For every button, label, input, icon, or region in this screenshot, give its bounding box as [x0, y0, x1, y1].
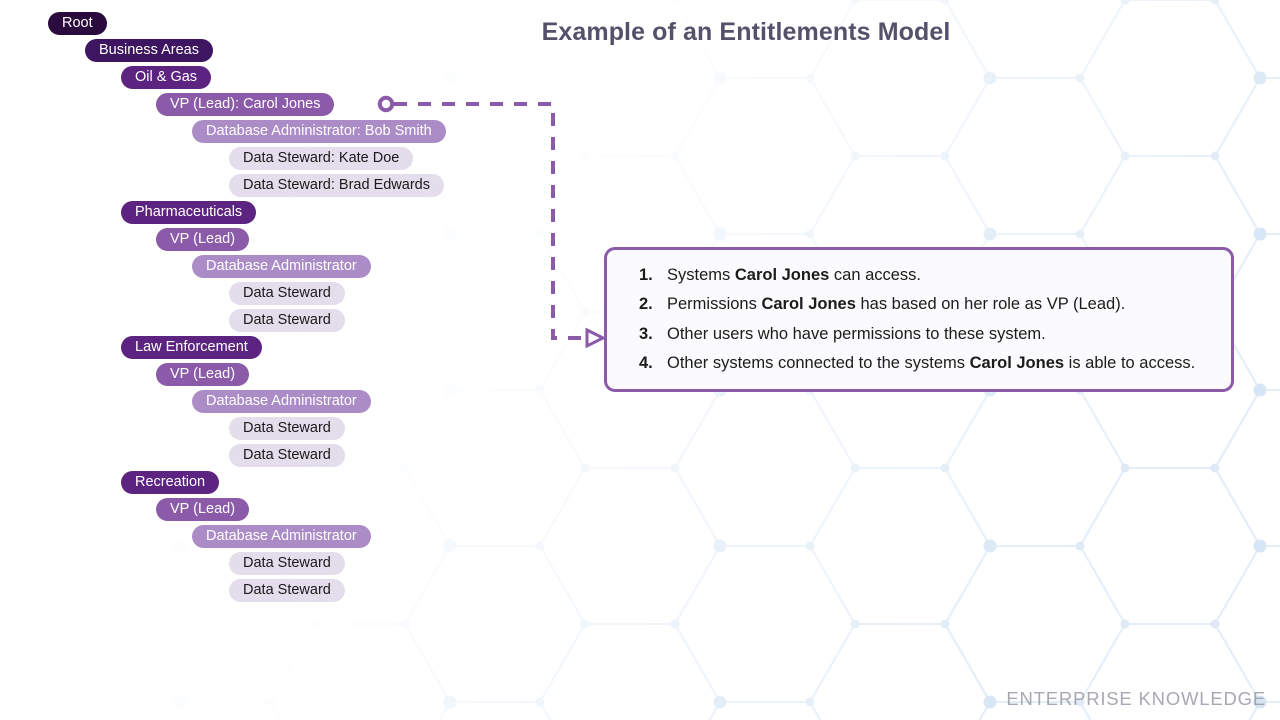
- callout-plain-text: Permissions: [667, 295, 761, 313]
- enterprise-knowledge-watermark: ENTERPRISE KNOWLEDGE: [1006, 688, 1266, 710]
- callout-list-item: 4.Other systems connected to the systems…: [627, 352, 1211, 374]
- tree-node-chip[interactable]: Data Steward: [229, 309, 345, 332]
- tree-node-row: Pharmaceuticals: [0, 201, 560, 228]
- tree-node-chip[interactable]: Data Steward: [229, 579, 345, 602]
- tree-node-chip[interactable]: Database Administrator: [192, 525, 371, 548]
- callout-item-text: Other systems connected to the systems C…: [667, 352, 1211, 374]
- callout-plain-text: is able to access.: [1064, 354, 1195, 372]
- tree-node-row: Data Steward: [0, 552, 560, 579]
- entitlements-callout-box: 1.Systems Carol Jones can access.2.Permi…: [604, 247, 1234, 392]
- tree-node-row: Data Steward: [0, 309, 560, 336]
- tree-node-chip[interactable]: Data Steward: Kate Doe: [229, 147, 413, 170]
- callout-emphasis: Carol Jones: [970, 354, 1064, 372]
- tree-node-row: Data Steward: [0, 579, 560, 606]
- callout-item-number: 4.: [627, 352, 667, 374]
- callout-item-number: 2.: [627, 293, 667, 315]
- connector-arrowhead: [587, 330, 603, 346]
- tree-node-row: VP (Lead): [0, 498, 560, 525]
- callout-plain-text: Other users who have permissions to thes…: [667, 325, 1046, 343]
- tree-node-chip[interactable]: VP (Lead): [156, 228, 249, 251]
- tree-node-chip[interactable]: Business Areas: [85, 39, 213, 62]
- tree-node-row: Database Administrator: Bob Smith: [0, 120, 560, 147]
- tree-node-row: Law Enforcement: [0, 336, 560, 363]
- callout-item-text: Systems Carol Jones can access.: [667, 264, 1211, 286]
- tree-node-row: Database Administrator: [0, 525, 560, 552]
- tree-node-row: Database Administrator: [0, 255, 560, 282]
- tree-node-row: Oil & Gas: [0, 66, 560, 93]
- callout-emphasis: Carol Jones: [735, 266, 829, 284]
- tree-node-chip[interactable]: Law Enforcement: [121, 336, 262, 359]
- callout-list-item: 3.Other users who have permissions to th…: [627, 323, 1211, 345]
- tree-node-chip[interactable]: Data Steward: [229, 552, 345, 575]
- callout-plain-text: has based on her role as VP (Lead).: [856, 295, 1125, 313]
- tree-node-row: Data Steward: Kate Doe: [0, 147, 560, 174]
- tree-node-row: Root: [0, 12, 560, 39]
- slide-canvas: Example of an Entitlements Model RootBus…: [0, 0, 1280, 720]
- tree-node-chip[interactable]: Recreation: [121, 471, 219, 494]
- tree-node-row: Data Steward: [0, 417, 560, 444]
- callout-list-item: 2.Permissions Carol Jones has based on h…: [627, 293, 1211, 315]
- tree-node-row: VP (Lead): [0, 228, 560, 255]
- tree-node-chip[interactable]: Database Administrator: [192, 390, 371, 413]
- tree-node-chip[interactable]: Database Administrator: [192, 255, 371, 278]
- tree-node-chip[interactable]: Pharmaceuticals: [121, 201, 256, 224]
- callout-emphasis: Carol Jones: [761, 295, 855, 313]
- tree-node-row: Data Steward: Brad Edwards: [0, 174, 560, 201]
- tree-node-chip[interactable]: Data Steward: Brad Edwards: [229, 174, 444, 197]
- callout-item-number: 3.: [627, 323, 667, 345]
- callout-item-number: 1.: [627, 264, 667, 286]
- tree-node-row: Data Steward: [0, 282, 560, 309]
- tree-node-row: VP (Lead): Carol Jones: [0, 93, 560, 120]
- tree-node-row: Data Steward: [0, 444, 560, 471]
- tree-node-chip[interactable]: Data Steward: [229, 282, 345, 305]
- callout-plain-text: can access.: [829, 266, 921, 284]
- callout-plain-text: Other systems connected to the systems: [667, 354, 970, 372]
- callout-item-text: Permissions Carol Jones has based on her…: [667, 293, 1211, 315]
- tree-node-chip[interactable]: Data Steward: [229, 417, 345, 440]
- tree-node-chip[interactable]: Data Steward: [229, 444, 345, 467]
- entitlements-hierarchy-tree: RootBusiness AreasOil & GasVP (Lead): Ca…: [0, 12, 560, 606]
- tree-node-chip[interactable]: Oil & Gas: [121, 66, 211, 89]
- tree-node-row: Business Areas: [0, 39, 560, 66]
- tree-node-row: Database Administrator: [0, 390, 560, 417]
- tree-node-row: VP (Lead): [0, 363, 560, 390]
- tree-node-row: Recreation: [0, 471, 560, 498]
- callout-plain-text: Systems: [667, 266, 735, 284]
- tree-node-chip[interactable]: VP (Lead): Carol Jones: [156, 93, 334, 116]
- tree-node-chip[interactable]: VP (Lead): [156, 363, 249, 386]
- callout-item-text: Other users who have permissions to thes…: [667, 323, 1211, 345]
- callout-list-item: 1.Systems Carol Jones can access.: [627, 264, 1211, 286]
- tree-node-chip[interactable]: Root: [48, 12, 107, 35]
- tree-node-chip[interactable]: Database Administrator: Bob Smith: [192, 120, 446, 143]
- tree-node-chip[interactable]: VP (Lead): [156, 498, 249, 521]
